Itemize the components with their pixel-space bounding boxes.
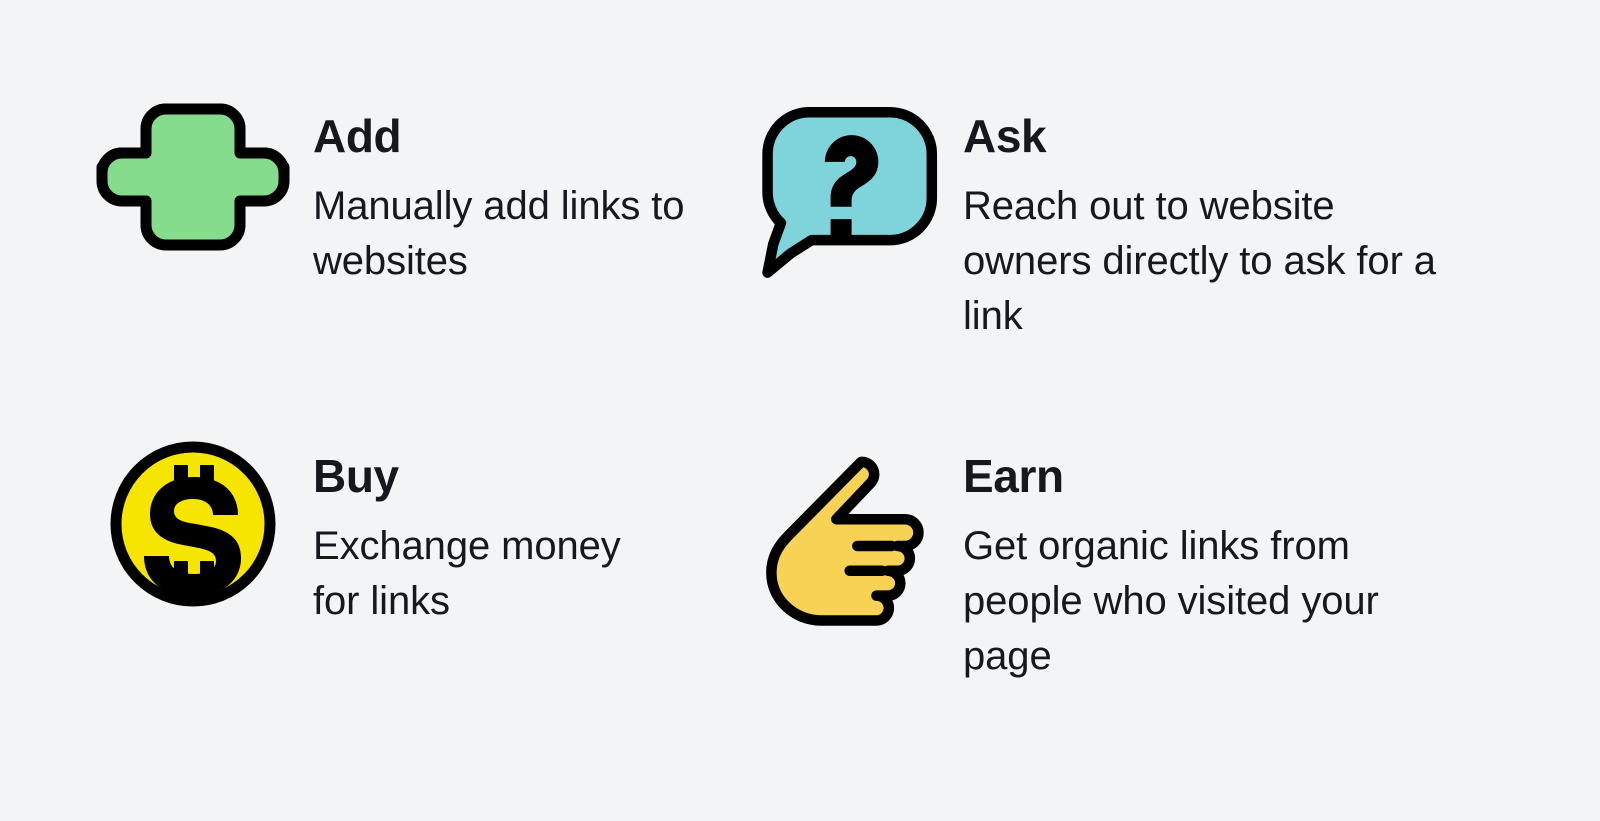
method-text-ask: Ask Reach out to website owners directly…: [963, 95, 1448, 345]
method-description: Manually add links to websites: [313, 179, 693, 289]
method-text-add: Add Manually add links to websites: [313, 95, 693, 289]
method-card-earn: Earn Get organic links from people who v…: [758, 435, 1448, 735]
dollar-coin-icon: [108, 439, 278, 609]
link-building-methods-grid: Add Manually add links to websites Ask R…: [0, 0, 1600, 821]
pointing-hand-icon: [758, 439, 928, 609]
method-text-buy: Buy Exchange money for links: [313, 435, 673, 629]
method-description: Exchange money for links: [313, 519, 673, 629]
plus-icon: [108, 95, 278, 265]
method-description: Reach out to website owners directly to …: [963, 179, 1448, 345]
method-title: Ask: [963, 113, 1448, 159]
infographic-canvas: Add Manually add links to websites Ask R…: [0, 0, 1600, 821]
method-card-ask: Ask Reach out to website owners directly…: [758, 95, 1448, 435]
method-title: Earn: [963, 453, 1448, 499]
speech-bubble-question-icon: [758, 95, 928, 265]
method-card-buy: Buy Exchange money for links: [108, 435, 758, 735]
method-description: Get organic links from people who visite…: [963, 519, 1448, 685]
method-title: Add: [313, 113, 693, 159]
method-text-earn: Earn Get organic links from people who v…: [963, 435, 1448, 685]
method-card-add: Add Manually add links to websites: [108, 95, 758, 435]
method-title: Buy: [313, 453, 673, 499]
